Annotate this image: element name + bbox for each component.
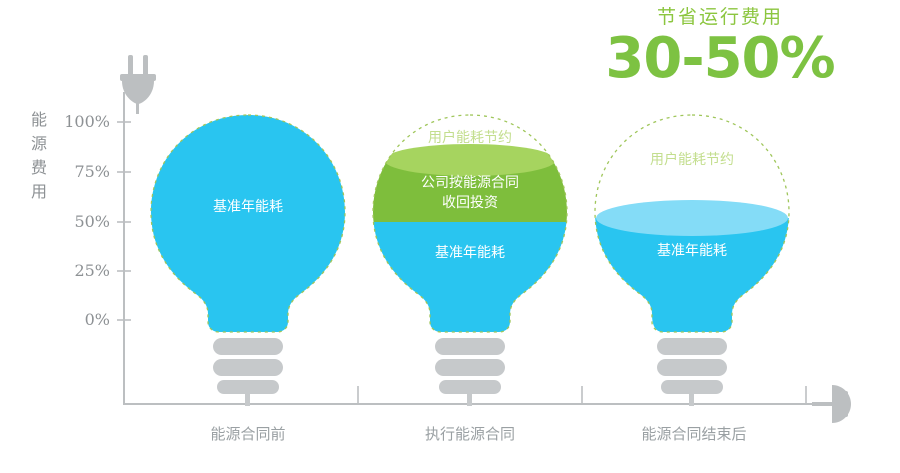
bulb-before-contract <box>140 115 360 406</box>
headline-value: 30-50% <box>590 30 850 88</box>
y-tick-75: 75% <box>56 162 110 181</box>
bulb-during-contract <box>362 115 582 406</box>
y-tick-0: 0% <box>56 310 110 329</box>
bulb-after-contract <box>584 115 804 406</box>
headline-block: 节省运行费用 30-50% <box>590 4 850 88</box>
y-tick-50: 50% <box>56 212 110 231</box>
bulb-base <box>657 338 727 406</box>
socket-icon <box>812 385 851 423</box>
y-tick-25: 25% <box>56 261 110 280</box>
infographic-canvas: 节省运行费用 30-50% 能源费用 100% 75% 50% 25% 0% 能… <box>0 0 900 473</box>
bulb-base <box>435 338 505 406</box>
y-tick-100: 100% <box>56 112 110 131</box>
x-tick-after-contract: 能源合同结束后 <box>604 423 784 444</box>
plug-icon <box>120 55 156 114</box>
bulb-base <box>213 338 283 406</box>
x-tick-during-contract: 执行能源合同 <box>380 423 560 444</box>
y-axis-title: 能源费用 <box>28 108 50 204</box>
x-tick-before-contract: 能源合同前 <box>158 423 338 444</box>
